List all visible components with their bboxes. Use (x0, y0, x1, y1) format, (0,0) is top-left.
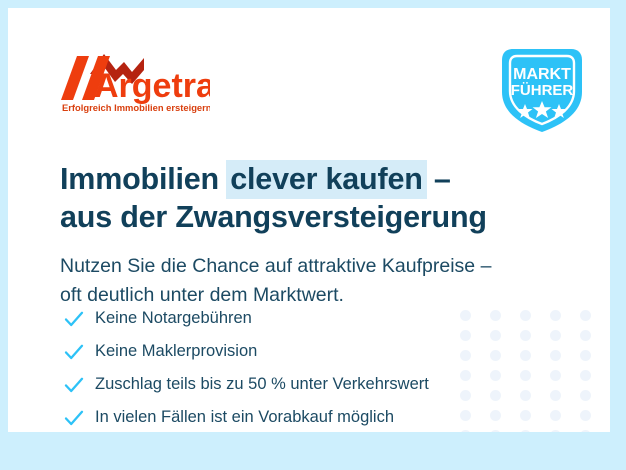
dot (460, 310, 471, 321)
dot (550, 310, 561, 321)
list-item: In vielen Fällen ist ein Vorabkauf mögli… (63, 403, 429, 432)
promo-banner: Argetra Erfolgreich Immobilien ersteiger… (0, 0, 626, 470)
dot (550, 390, 561, 401)
dot (550, 410, 561, 421)
dot (550, 350, 561, 361)
dot (490, 410, 501, 421)
decorative-dot-grid (450, 305, 600, 432)
dot (520, 350, 531, 361)
headline-text-after: – (426, 162, 451, 196)
headline-highlight: clever kaufen (226, 160, 426, 199)
dot (460, 390, 471, 401)
dot (520, 310, 531, 321)
dot (490, 370, 501, 381)
dot (520, 370, 531, 381)
benefit-label: Keine Maklerprovision (95, 342, 257, 361)
dot (490, 350, 501, 361)
dot (580, 370, 591, 381)
logo-tagline: Erfolgreich Immobilien ersteigern (62, 102, 210, 113)
dot (460, 430, 471, 433)
dot (550, 430, 561, 433)
dot (580, 410, 591, 421)
headline-line-1: Immobilien clever kaufen – (60, 160, 487, 198)
dot (580, 330, 591, 341)
page-title: Immobilien clever kaufen – aus der Zwang… (60, 160, 487, 236)
check-icon (63, 407, 85, 429)
dot (580, 430, 591, 433)
list-item: Zuschlag teils bis zu 50 % unter Verkehr… (63, 370, 429, 399)
dot (490, 390, 501, 401)
headline-text-before: Immobilien (60, 162, 227, 196)
subheading: Nutzen Sie die Chance auf attraktive Kau… (60, 252, 491, 310)
dot (580, 350, 591, 361)
check-icon (63, 308, 85, 330)
check-icon (63, 341, 85, 363)
benefits-list: Keine Notargebühren Keine Maklerprovisio… (63, 304, 429, 432)
badge-line1: MARKT (513, 66, 571, 83)
headline-line-2: aus der Zwangsversteigerung (60, 198, 487, 236)
benefit-label: Zuschlag teils bis zu 50 % unter Verkehr… (95, 375, 429, 394)
dot (520, 390, 531, 401)
dot (580, 310, 591, 321)
dot (520, 330, 531, 341)
dot (520, 430, 531, 433)
dot (490, 430, 501, 433)
dot (550, 370, 561, 381)
dot (490, 310, 501, 321)
list-item: Keine Maklerprovision (63, 337, 429, 366)
banner-content-area: Argetra Erfolgreich Immobilien ersteiger… (8, 8, 610, 432)
list-item: Keine Notargebühren (63, 304, 429, 333)
badge-line2: FÜHRER (511, 82, 574, 99)
benefit-label: In vielen Fällen ist ein Vorabkauf mögli… (95, 408, 394, 427)
subheading-line-1: Nutzen Sie die Chance auf attraktive Kau… (60, 252, 491, 281)
dot (550, 330, 561, 341)
dot (460, 370, 471, 381)
dot (580, 390, 591, 401)
check-icon (63, 374, 85, 396)
dot (490, 330, 501, 341)
dot (460, 410, 471, 421)
argetra-logo[interactable]: Argetra Erfolgreich Immobilien ersteiger… (60, 48, 210, 114)
dot (460, 350, 471, 361)
dot (520, 410, 531, 421)
logo-wordmark: Argetra (94, 67, 210, 105)
dot (460, 330, 471, 341)
benefit-label: Keine Notargebühren (95, 309, 252, 328)
market-leader-badge: MARKT FÜHRER (492, 40, 592, 138)
